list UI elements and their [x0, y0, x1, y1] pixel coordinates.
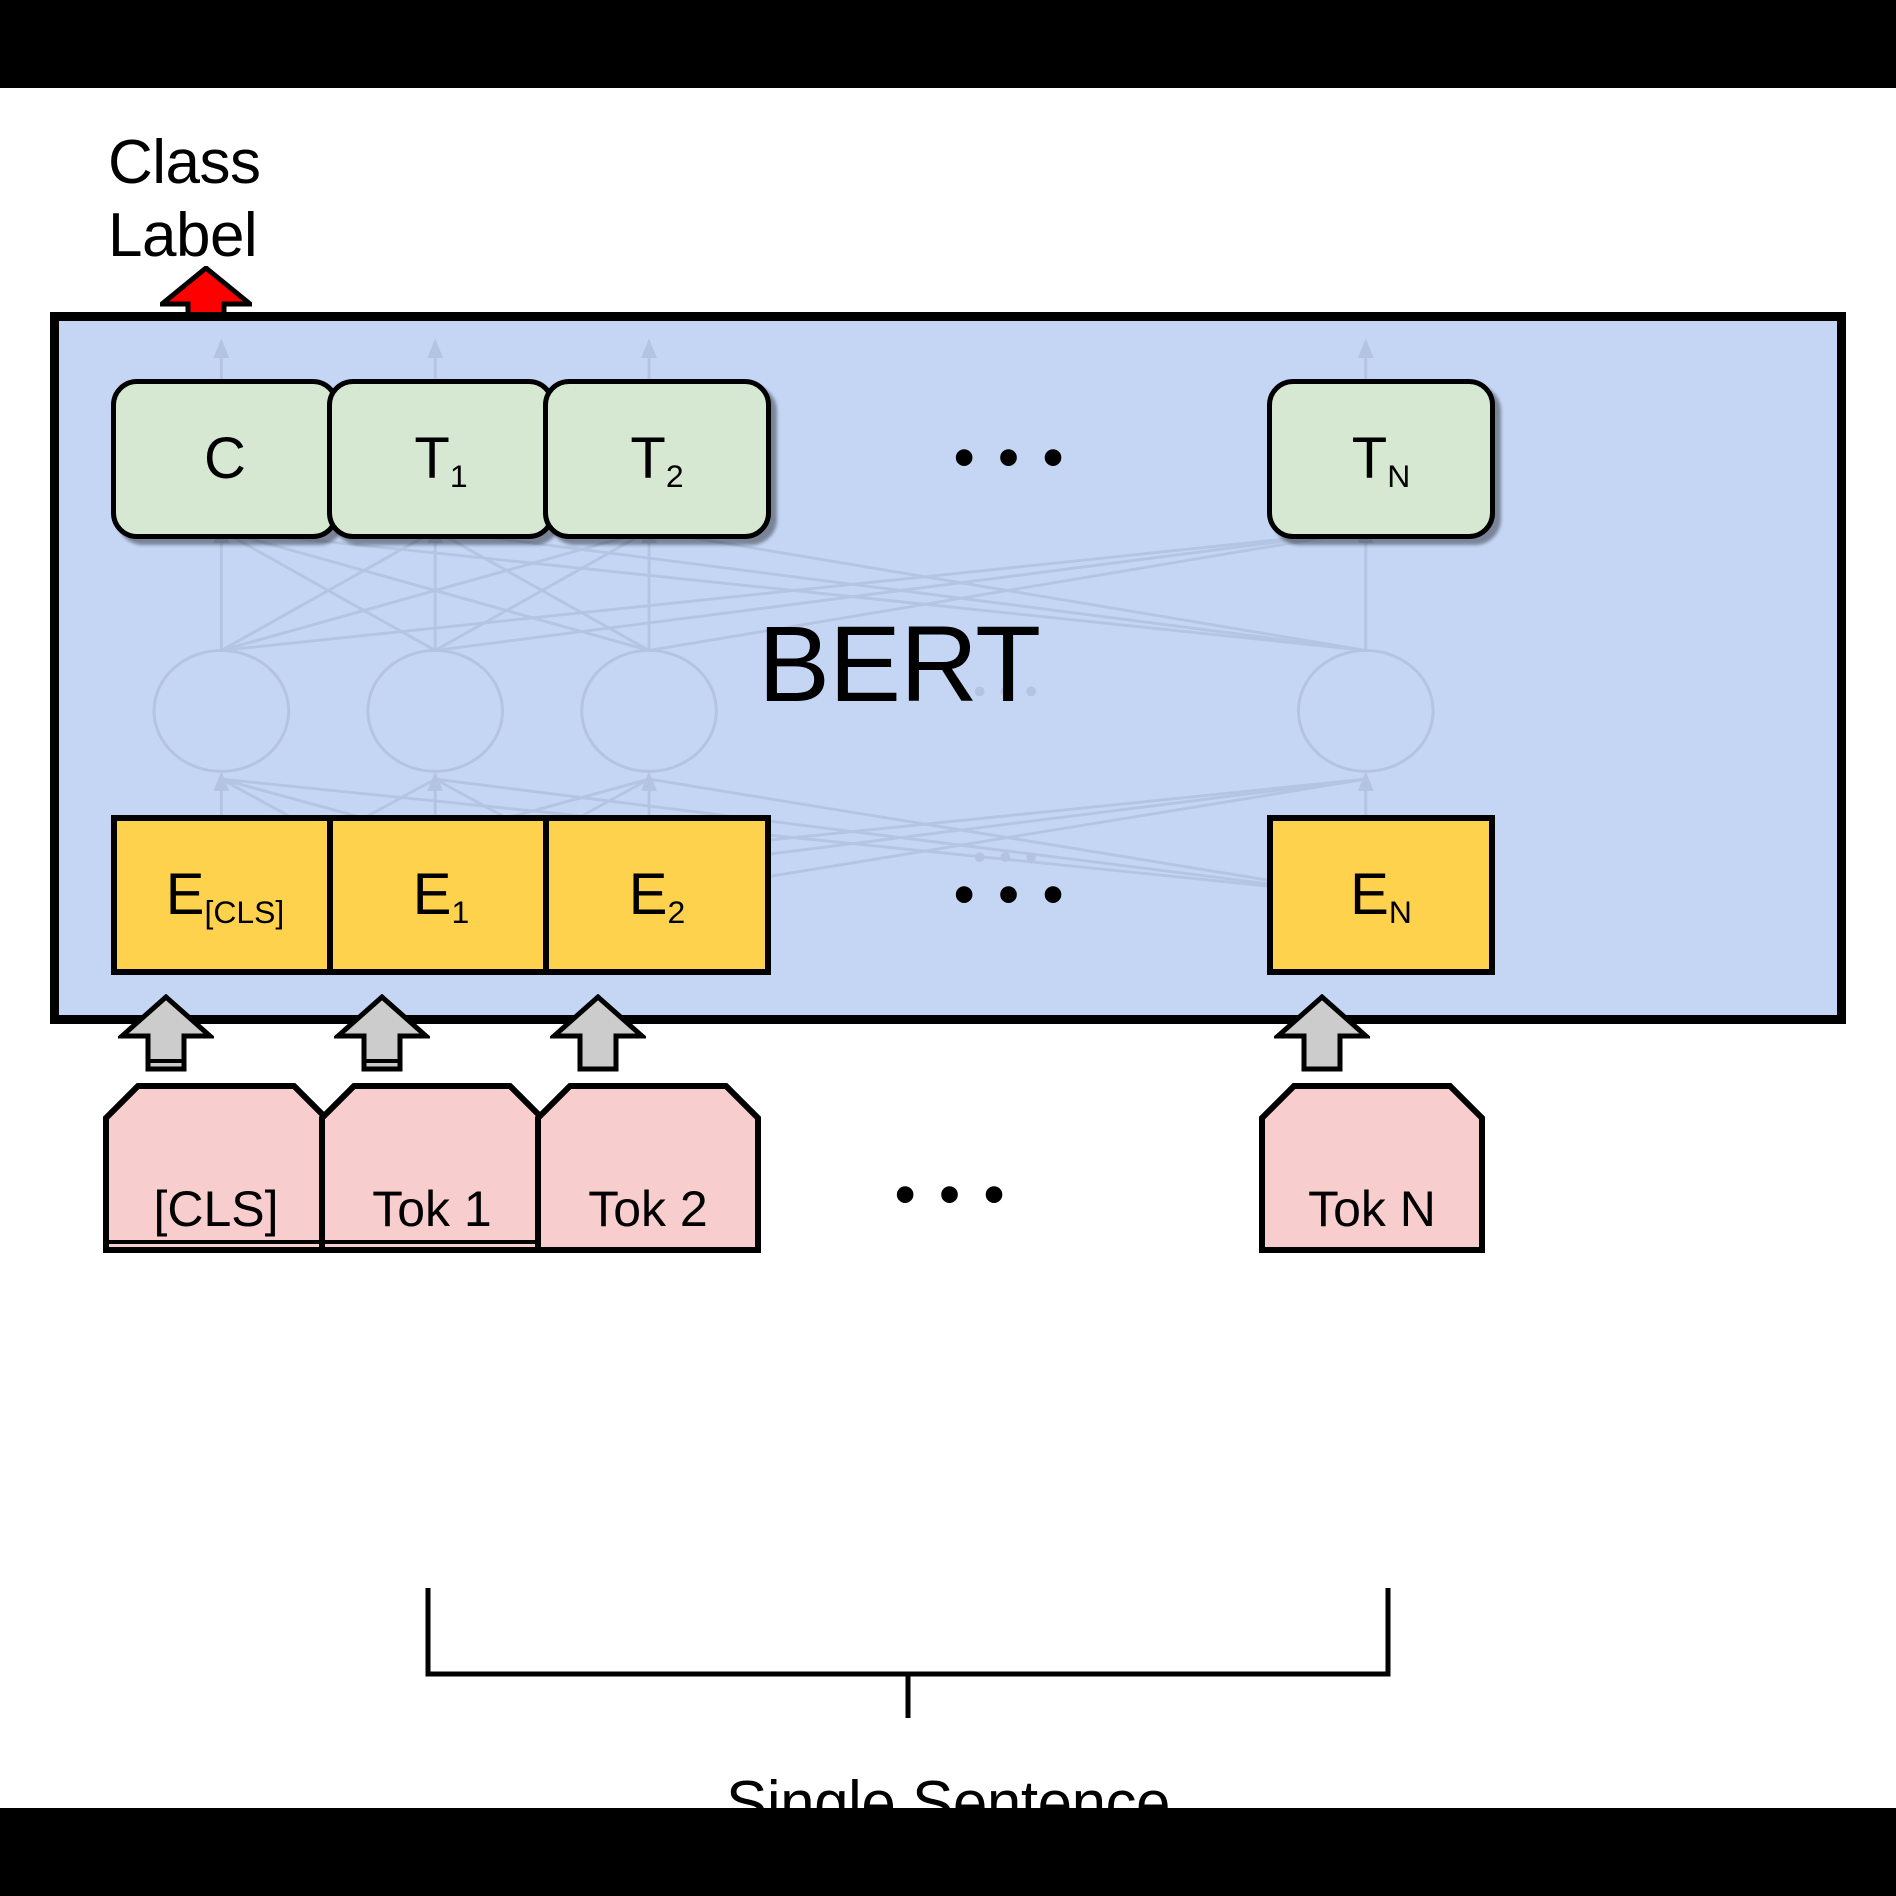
token-box-tok2[interactable]: Tok 2 [534, 1082, 762, 1264]
output-label-t2: T2 [630, 430, 683, 488]
output-box-c[interactable]: C [111, 379, 339, 539]
output-box-t1[interactable]: T1 [327, 379, 555, 539]
token-box-cls[interactable]: [CLS] [102, 1082, 330, 1264]
class-label-caption: Class Label [108, 126, 388, 272]
token-label-tok1: Tok 1 [318, 1184, 546, 1234]
output-label-c: C [204, 430, 246, 488]
sentence-caption: Single Sentence [0, 1768, 1896, 1839]
embedding-box-en[interactable]: EN [1267, 815, 1495, 975]
bert-model-title: BERT [699, 601, 1099, 726]
embedding-label-e1: E1 [413, 866, 469, 924]
output-box-tn[interactable]: TN [1267, 379, 1495, 539]
token-label-tokn: Tok N [1258, 1184, 1486, 1234]
token-row-ellipsis: • • • [895, 1166, 1008, 1224]
input-arrow-icon-tok1 [334, 994, 430, 1072]
embedding-label-cls: E[CLS] [166, 866, 284, 924]
token-box-tok1[interactable]: Tok 1 [318, 1082, 546, 1264]
output-label-tn: TN [1352, 430, 1410, 488]
embedding-row-ellipsis: • • • [954, 866, 1067, 924]
embedding-box-e2[interactable]: E2 [543, 815, 771, 975]
output-label-t1: T1 [414, 430, 467, 488]
figure-root: Class Label [0, 0, 1896, 1896]
embedding-box-e1[interactable]: E1 [327, 815, 555, 975]
embedding-label-e2: E2 [629, 866, 685, 924]
input-arrow-icon-tokn [1274, 994, 1370, 1072]
token-label-cls: [CLS] [102, 1184, 330, 1234]
embedding-box-cls[interactable]: E[CLS] [111, 815, 339, 975]
bert-encoder-body: BERT C T1 T2 TN • [50, 312, 1846, 1024]
figure-canvas: Class Label [0, 88, 1896, 1808]
token-label-tok2: Tok 2 [534, 1184, 762, 1234]
input-arrow-icon-cls [118, 994, 214, 1072]
output-row-ellipsis: • • • [954, 429, 1067, 487]
input-arrow-icon-tok2 [550, 994, 646, 1072]
output-box-t2[interactable]: T2 [543, 379, 771, 539]
embedding-label-en: EN [1350, 866, 1412, 924]
sentence-bracket [330, 1588, 1630, 1718]
token-box-tokn[interactable]: Tok N [1258, 1082, 1486, 1264]
